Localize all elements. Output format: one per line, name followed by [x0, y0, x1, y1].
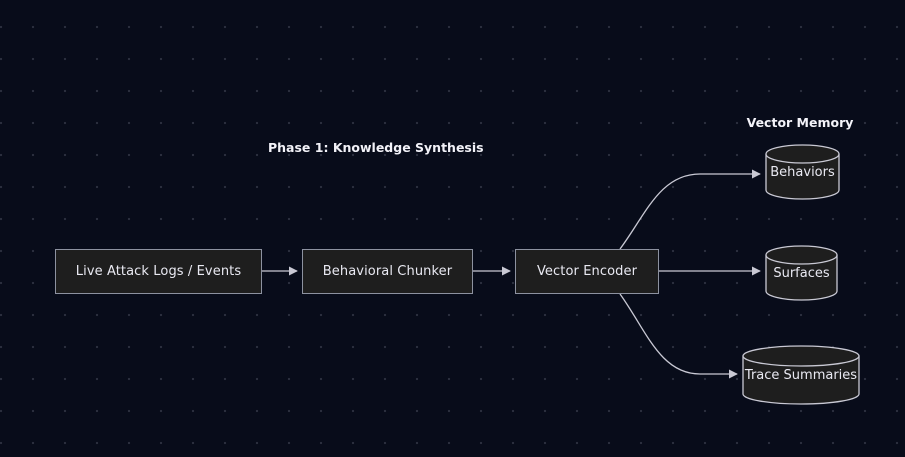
node-behaviors-datastore[interactable]: Behaviors: [765, 144, 840, 200]
node-label: Behavioral Chunker: [323, 264, 452, 279]
node-surfaces-datastore[interactable]: Surfaces: [765, 245, 838, 301]
node-vector-encoder[interactable]: Vector Encoder: [515, 249, 659, 294]
node-label: Trace Summaries: [742, 368, 860, 383]
phase-title: Phase 1: Knowledge Synthesis: [268, 140, 484, 155]
node-behavioral-chunker[interactable]: Behavioral Chunker: [302, 249, 473, 294]
diagram-canvas: Phase 1: Knowledge Synthesis Vector Memo…: [0, 0, 905, 457]
node-label: Vector Encoder: [537, 264, 637, 279]
cluster-title-vector-memory: Vector Memory: [730, 115, 870, 130]
node-label: Live Attack Logs / Events: [76, 264, 241, 279]
edge-encoder-to-behaviors: [620, 174, 760, 249]
node-label: Surfaces: [765, 266, 838, 281]
node-label: Behaviors: [765, 165, 840, 180]
edge-encoder-to-traces: [620, 294, 737, 374]
node-live-attack-logs[interactable]: Live Attack Logs / Events: [55, 249, 262, 294]
node-trace-summaries-datastore[interactable]: Trace Summaries: [742, 345, 860, 405]
